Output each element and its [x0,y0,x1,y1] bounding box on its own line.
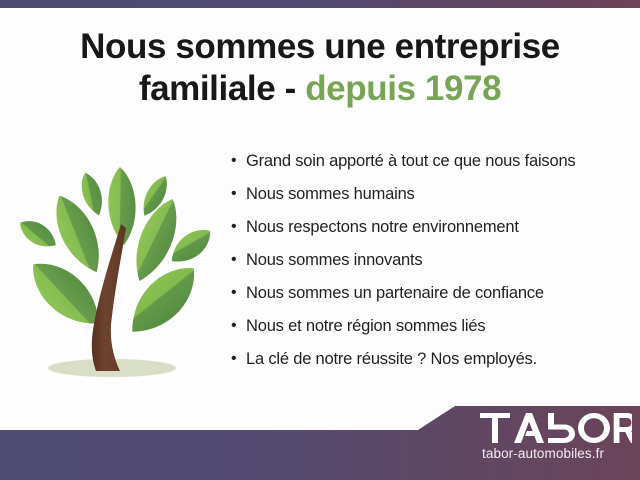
headline-line-2-black: familiale - [139,69,305,108]
list-item: • Nous sommes innovants [231,249,631,282]
list-item: • Nous sommes un partenaire de confiance [231,282,631,315]
bullet-marker-icon: • [231,150,246,172]
tree-icon [8,150,223,395]
bullet-marker-icon: • [231,249,246,271]
bullet-marker-icon: • [231,216,246,238]
headline-line-1: Nous sommes une entreprise [0,26,640,68]
logo-wordmark-tabor [480,413,632,443]
list-item-label: Nous respectons notre environnement [246,216,519,238]
list-item-label: Nous sommes un partenaire de confiance [246,282,544,304]
page-title: Nous sommes une entreprise familiale - d… [0,26,640,110]
logo-tagline: tabor-automobiles.fr [480,446,635,461]
list-item-label: Nous sommes innovants [246,249,422,271]
bullet-marker-icon: • [231,183,246,205]
tree-icon-svg [8,150,223,395]
list-item-label: La clé de notre réussite ? Nos employés. [246,348,537,370]
list-item: • Nous sommes humains [231,183,631,216]
bullet-list: • Grand soin apporté à tout ce que nous … [231,150,631,381]
bullet-marker-icon: • [231,348,246,370]
footer-band: tabor-automobiles.fr [0,404,640,480]
brand-logo[interactable]: tabor-automobiles.fr [480,413,635,461]
list-item-label: Nous et notre région sommes liés [246,315,485,337]
bullet-marker-icon: • [231,315,246,337]
headline-highlight-year: depuis 1978 [305,69,501,108]
bullet-marker-icon: • [231,282,246,304]
top-accent-bar [0,0,640,8]
list-item: • Nous respectons notre environnement [231,216,631,249]
list-item: • Nous et notre région sommes liés [231,315,631,348]
list-item-label: Grand soin apporté à tout ce que nous fa… [246,150,575,172]
list-item: • La clé de notre réussite ? Nos employé… [231,348,631,381]
headline-line-2: familiale - depuis 1978 [0,68,640,110]
list-item-label: Nous sommes humains [246,183,415,205]
slide-canvas: Nous sommes une entreprise familiale - d… [0,0,640,480]
list-item: • Grand soin apporté à tout ce que nous … [231,150,631,183]
